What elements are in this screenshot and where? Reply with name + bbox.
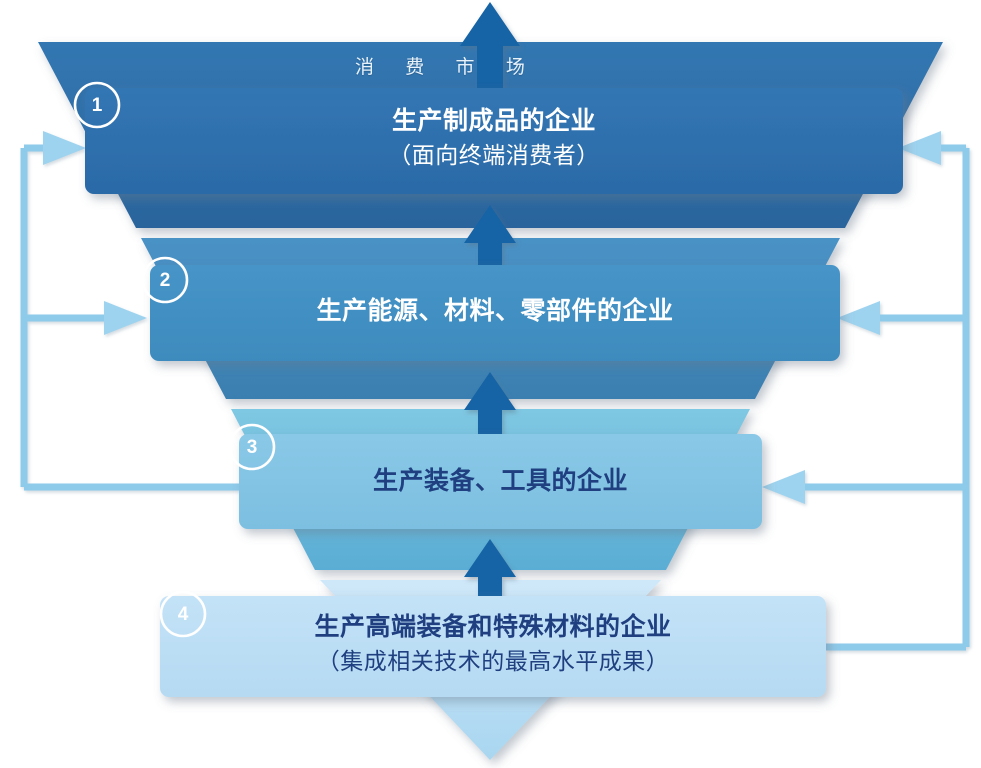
stage-box-2[interactable]: [150, 265, 840, 361]
feedback-arrowhead-right-stage2: [837, 301, 880, 335]
feedback-arrowhead-left-stage2: [104, 301, 147, 335]
diagram-graphics: [0, 0, 981, 768]
stage-box-3[interactable]: [239, 434, 762, 529]
feedback-arrowhead-right-stage3: [762, 470, 805, 504]
feedback-arrowhead-right-stage1: [898, 131, 941, 165]
stage-box-4[interactable]: [160, 596, 826, 697]
funnel-diagram-canvas: 消 费 市 场 1 2 3 4 生产制成品的企业 （面向终端消费者） 生产能源、…: [0, 0, 981, 768]
stage-box-1[interactable]: [85, 88, 903, 194]
feedback-arrowhead-left-stage1: [43, 131, 86, 165]
